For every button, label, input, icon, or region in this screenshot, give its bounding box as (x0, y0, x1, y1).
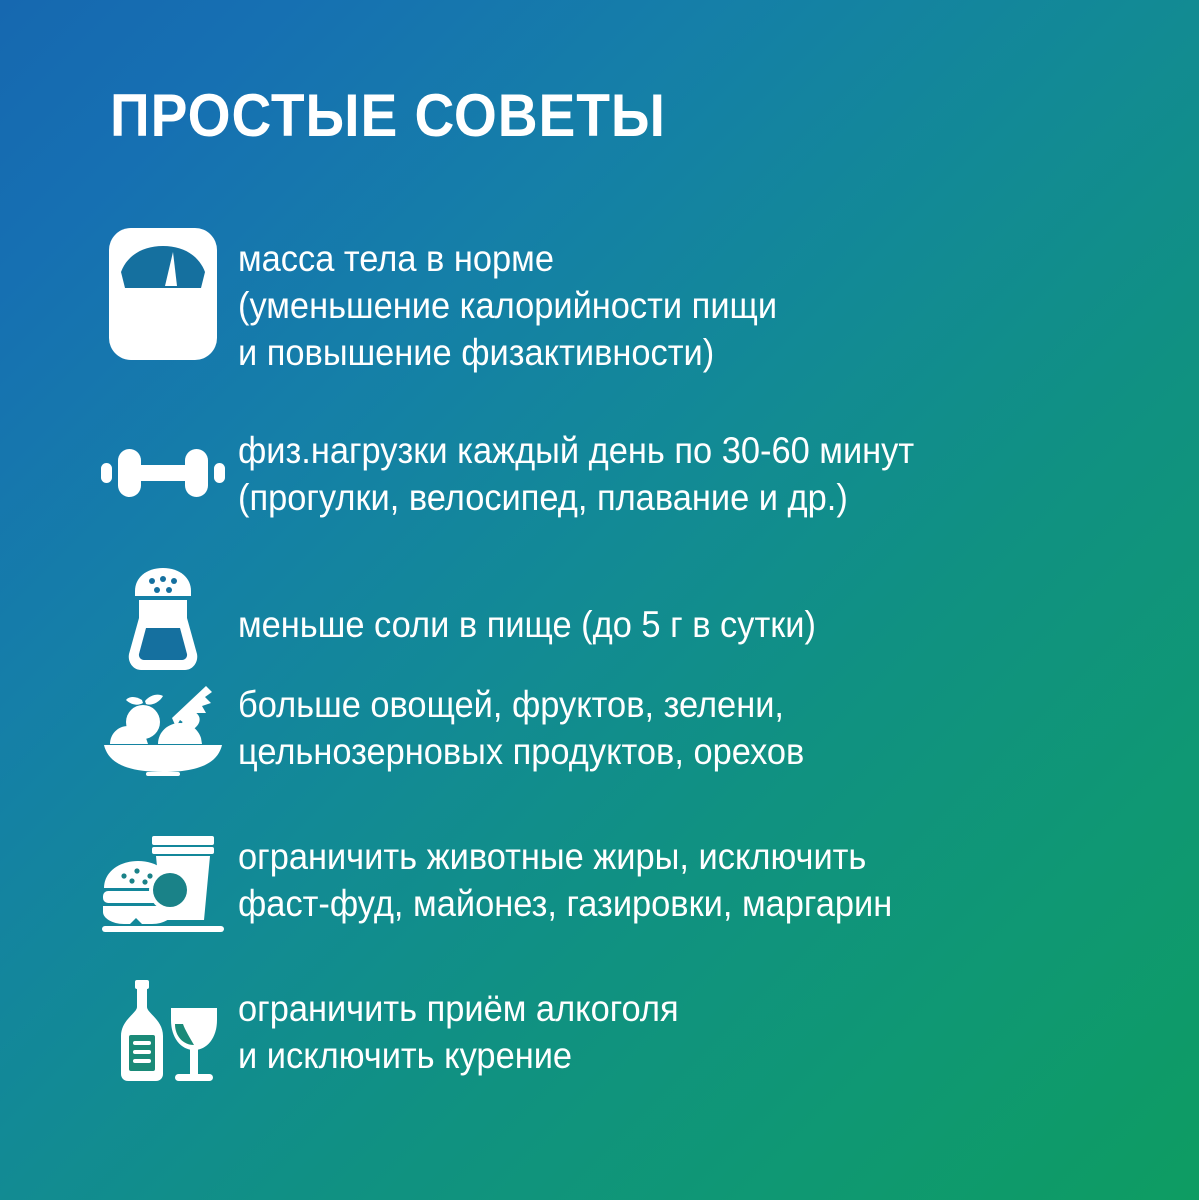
tip-text: ограничить приём алкоголя и исключить ку… (238, 978, 1084, 1080)
dumbbell-icon (88, 418, 238, 550)
tip-text: больше овощей, фруктов, зелени, цельнозе… (238, 676, 1084, 776)
tip-item: ограничить животные жиры, исключить фаст… (88, 826, 1148, 978)
salad-bowl-icon (88, 676, 238, 802)
fast-food-icon (88, 826, 238, 952)
tip-text: физ.нагрузки каждый день по 30-60 минут … (238, 418, 1084, 522)
tip-item: меньше соли в пище (до 5 г в сутки) (88, 566, 1148, 676)
alcohol-bottle-glass-icon (88, 978, 238, 1100)
health-tips-poster: ПРОСТЫЕ СОВЕТЫ масса тела в норме (умень… (0, 0, 1199, 1200)
tip-item: масса тела в норме (уменьшение калорийно… (88, 222, 1148, 418)
bathroom-scale-icon (88, 222, 238, 378)
tip-item: больше овощей, фруктов, зелени, цельнозе… (88, 676, 1148, 826)
tip-item: ограничить приём алкоголя и исключить ку… (88, 978, 1148, 1108)
page-title: ПРОСТЫЕ СОВЕТЫ (110, 86, 666, 146)
tip-text: масса тела в норме (уменьшение калорийно… (238, 222, 1084, 377)
tip-item: физ.нагрузки каждый день по 30-60 минут … (88, 418, 1148, 566)
tip-text: меньше соли в пище (до 5 г в сутки) (238, 566, 1084, 649)
salt-shaker-icon (88, 566, 238, 676)
tip-text: ограничить животные жиры, исключить фаст… (238, 826, 1084, 928)
tips-list: масса тела в норме (уменьшение калорийно… (88, 222, 1148, 1108)
